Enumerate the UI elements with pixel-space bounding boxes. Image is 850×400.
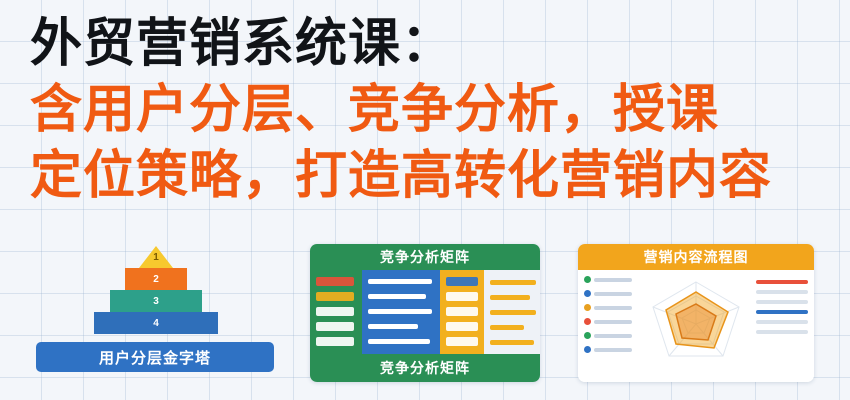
- marketing-flow-card: 营销内容流程图: [578, 244, 814, 382]
- pyramid-level-1: 1: [139, 246, 173, 268]
- matrix-column-2: [362, 270, 440, 354]
- pyramid-level-2: 2: [125, 268, 187, 290]
- headline-block: 外贸营销系统课： 含用户分层、竞争分析，授课 定位策略，打造高转化营销内容: [30, 18, 850, 202]
- radar-title: 营销内容流程图: [578, 244, 814, 270]
- status-dot-icon: [584, 290, 591, 297]
- matrix-column-3: [440, 270, 484, 354]
- pyramid-level-4: 4: [94, 312, 218, 334]
- matrix-column-4: [484, 270, 540, 354]
- list-item: [584, 290, 632, 297]
- status-dot-icon: [584, 332, 591, 339]
- competition-matrix-card: 竞争分析矩阵: [310, 244, 540, 382]
- matrix-footer-label: 竞争分析矩阵: [310, 354, 540, 382]
- headline-line-2: 含用户分层、竞争分析，授课: [30, 84, 850, 136]
- status-dot-icon: [584, 318, 591, 325]
- status-dot-icon: [584, 346, 591, 353]
- radar-legend-right: [756, 280, 808, 340]
- headline-line-1: 外贸营销系统课：: [30, 18, 850, 70]
- radar-legend-left: [584, 276, 632, 360]
- user-tier-pyramid-card: 1 2 3 4 用户分层金字塔: [36, 246, 274, 378]
- status-dot-icon: [584, 276, 591, 283]
- radar-chart: [636, 272, 756, 376]
- cards-row: 1 2 3 4 用户分层金字塔 竞争分析矩阵: [0, 246, 850, 386]
- list-item: [584, 346, 632, 353]
- matrix-title: 竞争分析矩阵: [310, 244, 540, 270]
- list-item: [584, 318, 632, 325]
- list-item: [584, 304, 632, 311]
- list-item: [584, 276, 632, 283]
- pyramid-caption: 用户分层金字塔: [36, 342, 274, 372]
- pyramid-level-3: 3: [110, 290, 202, 312]
- poster-canvas: 外贸营销系统课： 含用户分层、竞争分析，授课 定位策略，打造高转化营销内容 1 …: [0, 0, 850, 400]
- radar-body: [578, 270, 814, 382]
- matrix-body: [310, 270, 540, 354]
- list-item: [584, 332, 632, 339]
- headline-line-3: 定位策略，打造高转化营销内容: [30, 150, 850, 202]
- status-dot-icon: [584, 304, 591, 311]
- pyramid-graphic: 1 2 3 4: [86, 246, 226, 336]
- matrix-column-1: [310, 270, 362, 354]
